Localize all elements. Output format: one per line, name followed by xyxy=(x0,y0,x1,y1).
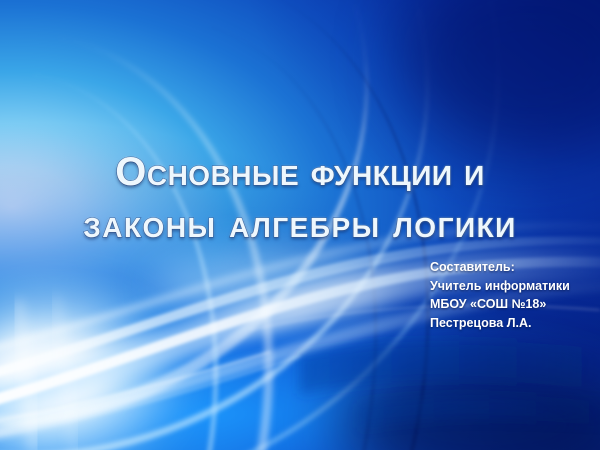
credit-author-name: Пестрецова Л.А. xyxy=(430,314,570,333)
slide-title: Основные функции и законы алгебры логики xyxy=(0,146,600,250)
author-credit-block: Составитель: Учитель информатики МБОУ «С… xyxy=(430,258,570,332)
credit-label-compiler: Составитель: xyxy=(430,258,570,277)
slide-title-line-2: законы алгебры логики xyxy=(0,198,600,250)
slide-title-line-1: Основные функции и xyxy=(0,146,600,198)
presentation-slide: Основные функции и законы алгебры логики… xyxy=(0,0,600,450)
credit-role: Учитель информатики xyxy=(430,277,570,296)
credit-school: МБОУ «СОШ №18» xyxy=(430,295,570,314)
